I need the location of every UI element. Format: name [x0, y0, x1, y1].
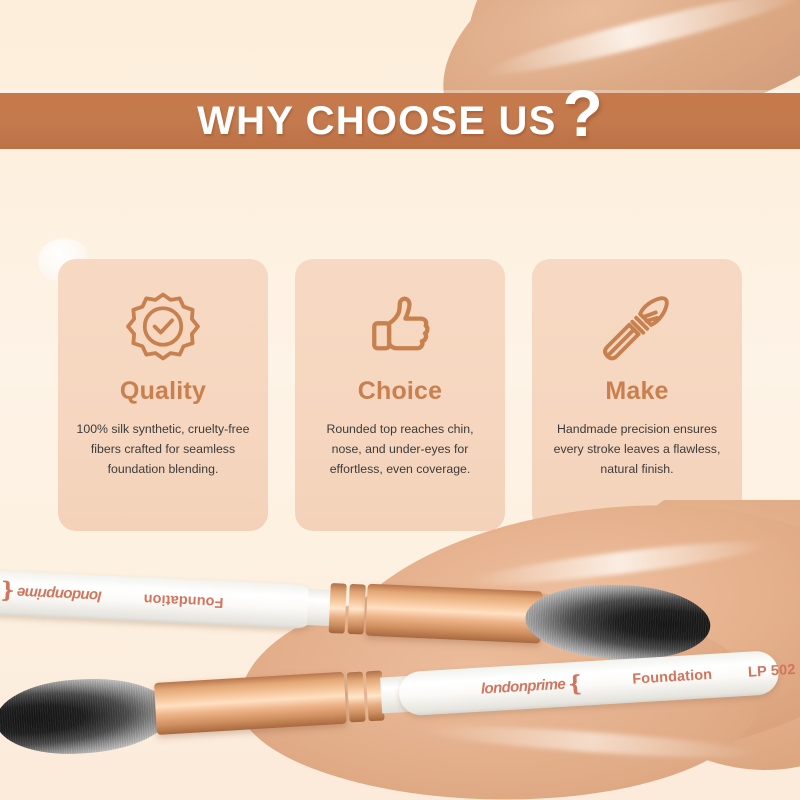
feature-card-quality[interactable]: Quality 100% silk synthetic, cruelty-fre… — [58, 259, 268, 531]
brush-bristles — [0, 674, 173, 758]
feature-card-list: Quality 100% silk synthetic, cruelty-fre… — [58, 259, 742, 531]
question-mark-glyph: ? — [563, 90, 603, 138]
brush-ferrule — [154, 672, 347, 735]
brush-model-code: LP 502 — [748, 662, 797, 681]
feature-card-title: Quality — [120, 377, 206, 406]
headline-banner-inner: WHY CHOOSE US ? — [197, 101, 603, 141]
headline-banner: WHY CHOOSE US ? — [0, 93, 800, 149]
bristle-texture — [0, 674, 173, 758]
brand-swirl-icon: ❴ — [0, 580, 17, 603]
brand-swirl-icon: ❴ — [565, 673, 585, 696]
brand-logo-text: londonprime — [17, 584, 102, 605]
brush-ferrule — [365, 584, 542, 644]
brush-ferrule-ring-1 — [329, 583, 347, 634]
quality-badge-icon — [125, 285, 201, 371]
brush-ferrule-ring-1 — [347, 672, 366, 723]
makeup-brush-icon — [598, 285, 676, 371]
feature-card-description: Handmade precision ensures every stroke … — [546, 420, 728, 480]
brush-product-name: Foundation — [143, 591, 224, 611]
feature-card-title: Make — [605, 377, 668, 406]
brand-logo-text: londonprime — [480, 675, 565, 697]
feature-card-make[interactable]: Make Handmade precision ensures every st… — [532, 259, 742, 531]
feature-card-choice[interactable]: Choice Rounded top reaches chin, nose, a… — [295, 259, 505, 531]
feature-card-description: Rounded top reaches chin, nose, and unde… — [309, 420, 491, 480]
brush-product-name: Foundation — [632, 667, 713, 688]
promo-graphic: WHY CHOOSE US ? Quality 100% silk synthe… — [0, 0, 800, 800]
page-title: WHY CHOOSE US — [197, 101, 556, 141]
thumbs-up-icon — [361, 285, 439, 371]
feature-card-title: Choice — [358, 377, 443, 406]
brush-ferrule-ring-2 — [348, 584, 366, 635]
feature-card-description: 100% silk synthetic, cruelty-free fibers… — [72, 420, 254, 480]
